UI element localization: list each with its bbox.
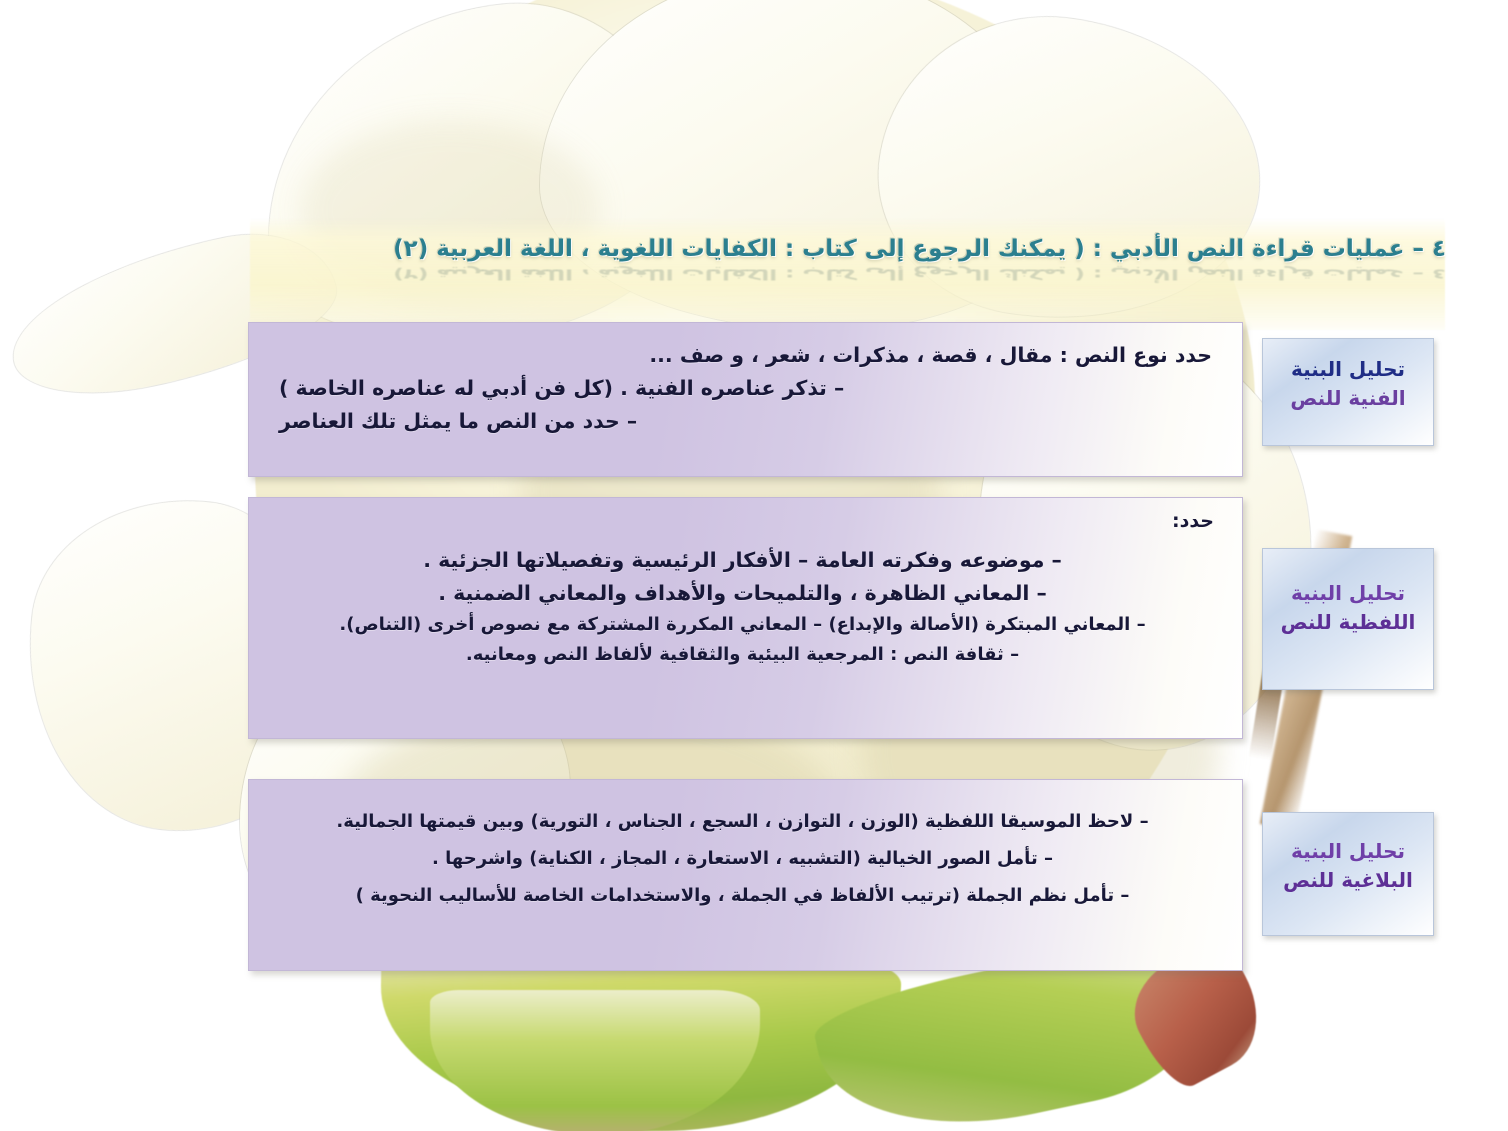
content-box-rhetorical-structure: – لاحظ الموسيقا اللفظية (الوزن ، التوازن… bbox=[248, 779, 1243, 971]
content-line: – ثقافة النص : المرجعية البيئية والثقافي… bbox=[271, 640, 1214, 669]
content-box-artistic-structure: حدد نوع النص : مقال ، قصة ، مذكرات ، شعر… bbox=[248, 322, 1243, 477]
content-line: – تذكر عناصره الفنية . (كل فن أدبي له عن… bbox=[271, 372, 1214, 405]
section-label-line1: تحليل البنية bbox=[1269, 355, 1427, 384]
content-line: – المعاني الظاهرة ، والتلميحات والأهداف … bbox=[271, 577, 1214, 610]
content-lead: حدد: bbox=[271, 510, 1214, 532]
section-label-line2: البلاغية للنص bbox=[1269, 866, 1427, 895]
content-line: – موضوعه وفكرته العامة – الأفكار الرئيسي… bbox=[271, 544, 1214, 577]
content-line: – لاحظ الموسيقا اللفظية (الوزن ، التوازن… bbox=[271, 804, 1214, 841]
section-label-line1: تحليل البنية bbox=[1269, 579, 1427, 608]
section-label-rhetorical-structure: تحليل البنية البلاغية للنص bbox=[1262, 812, 1434, 936]
content-line: – تأمل نظم الجملة (ترتيب الألفاظ في الجم… bbox=[271, 878, 1214, 915]
page-root: ٤ – عمليات قراءة النص الأدبي : ( يمكنك ا… bbox=[0, 0, 1508, 1131]
content-line: – المعاني المبتكرة (الأصالة والإبداع) – … bbox=[271, 610, 1214, 639]
section-label-line2: اللفظية للنص bbox=[1269, 608, 1427, 637]
content-line: حدد نوع النص : مقال ، قصة ، مذكرات ، شعر… bbox=[271, 339, 1214, 372]
section-label-artistic-structure: تحليل البنية الفنية للنص bbox=[1262, 338, 1434, 446]
section-label-lexical-structure: تحليل البنية اللفظية للنص bbox=[1262, 548, 1434, 690]
page-title: ٤ – عمليات قراءة النص الأدبي : ( يمكنك ا… bbox=[326, 236, 1446, 262]
content-line: – تأمل الصور الخيالية (التشبيه ، الاستعا… bbox=[271, 841, 1214, 878]
section-label-line1: تحليل البنية bbox=[1269, 837, 1427, 866]
section-label-line2: الفنية للنص bbox=[1269, 384, 1427, 413]
content-line: – حدد من النص ما يمثل تلك العناصر bbox=[271, 405, 1214, 438]
content-box-lexical-structure: حدد: – موضوعه وفكرته العامة – الأفكار ال… bbox=[248, 497, 1243, 739]
scanned-page-strip bbox=[250, 218, 1445, 330]
